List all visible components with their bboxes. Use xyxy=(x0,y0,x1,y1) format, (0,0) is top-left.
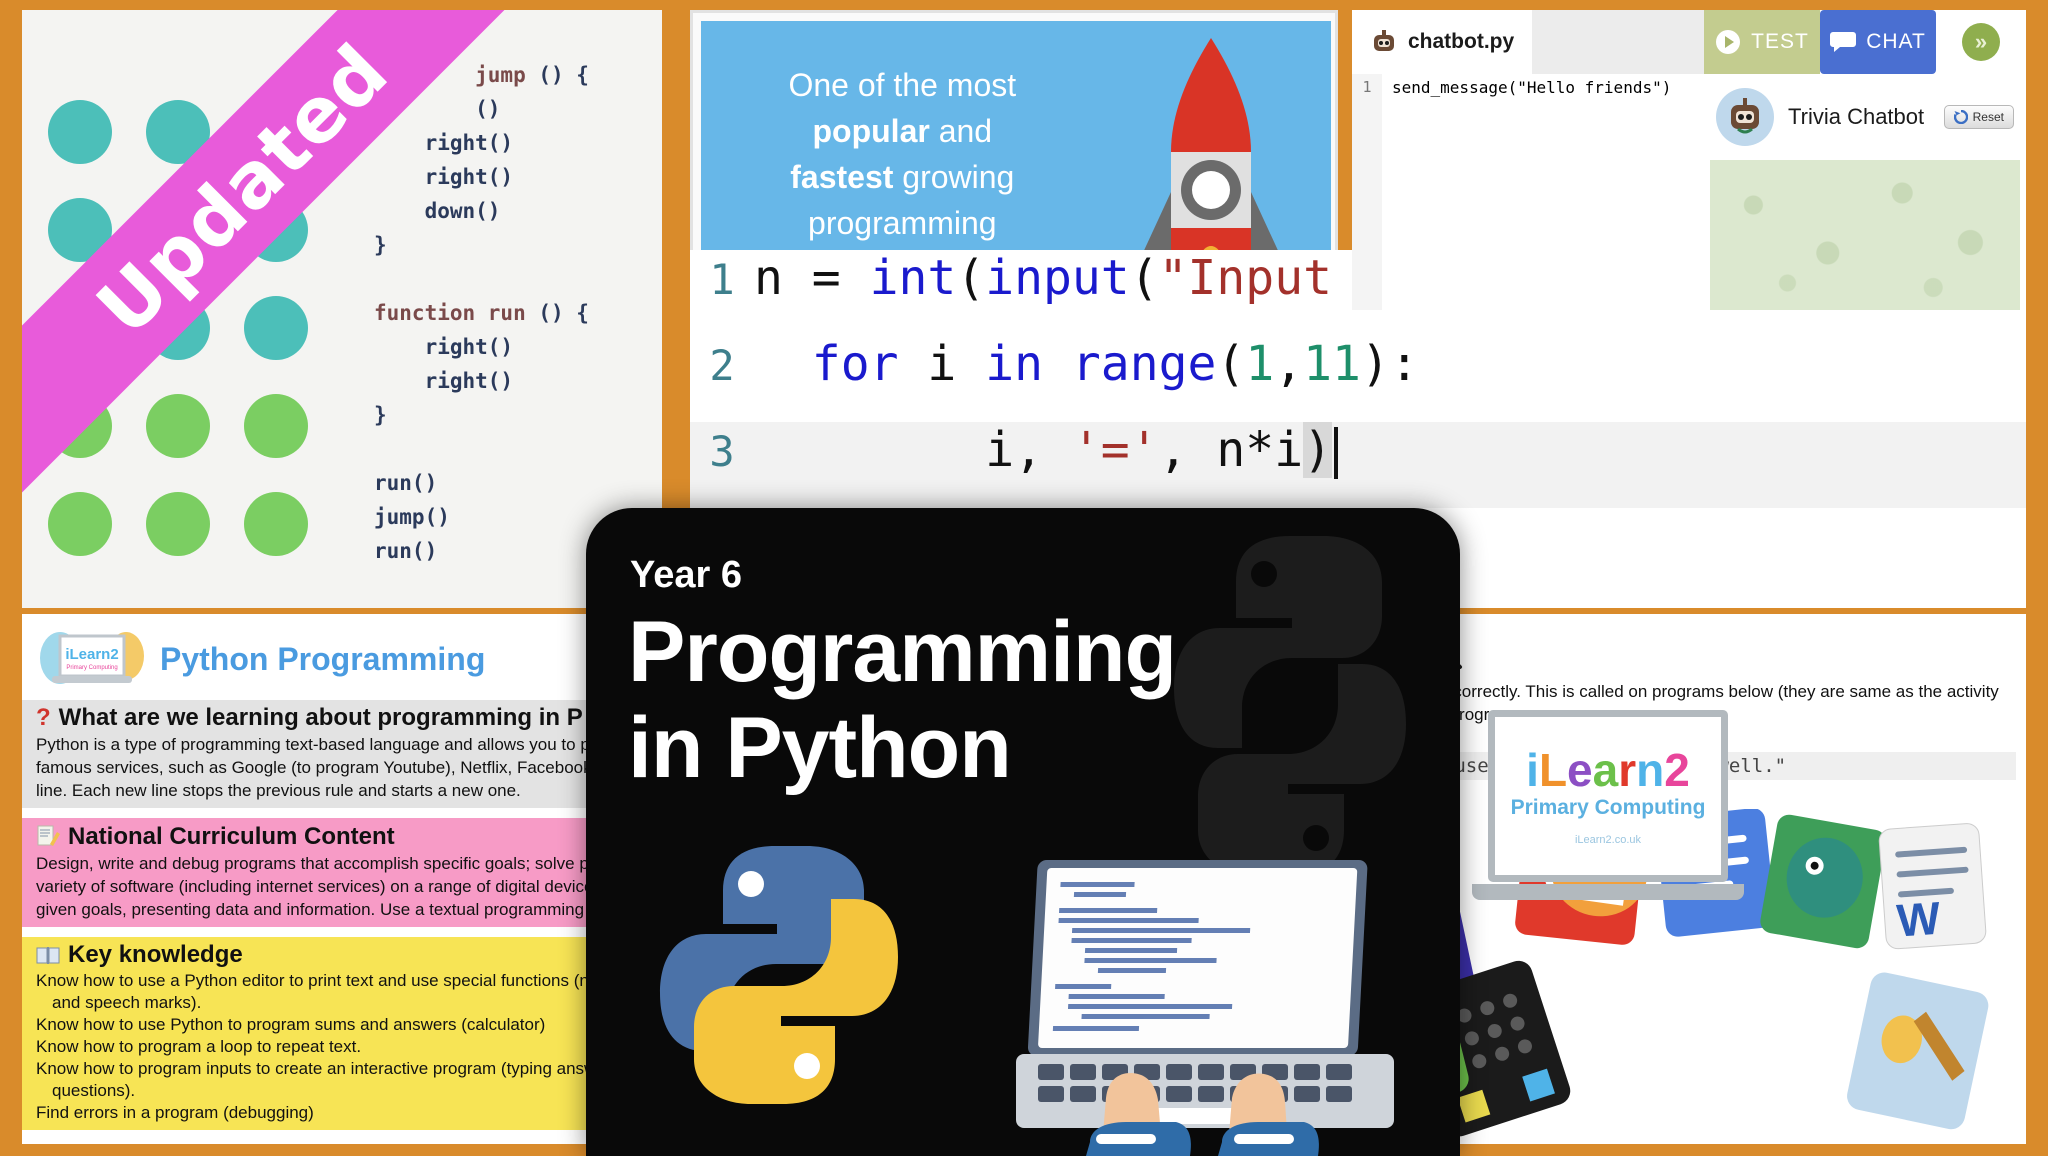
tab-chatbot-py[interactable]: chatbot.py xyxy=(1352,10,1532,74)
memo-pencil-icon xyxy=(36,824,60,848)
chatbot-toolbar: chatbot.py TEST CHAT » xyxy=(1352,10,2026,74)
chat-message-area[interactable] xyxy=(1710,160,2020,310)
chatbot-tab-strip: chatbot.py xyxy=(1352,10,1704,74)
key-knowledge-list: Know how to use a Python editor to print… xyxy=(36,970,648,1124)
ilearn2-mini-logo: iLearn2 Primary Computing xyxy=(38,628,146,690)
poster-frame: jump () { () right() right() down() } fu… xyxy=(0,0,2048,1156)
organiser-title: Python Programming xyxy=(160,641,485,678)
chatbot-filename: chatbot.py xyxy=(1408,30,1514,54)
key-point: Know how to program a loop to repeat tex… xyxy=(36,1036,648,1058)
question-mark-icon: ? xyxy=(36,706,51,729)
line-number-1: 1 xyxy=(690,255,754,304)
block-code-text: jump () { () right() right() down() } fu… xyxy=(374,58,589,568)
key-point: Know how to use a Python editor to print… xyxy=(36,970,648,1014)
bot-avatar xyxy=(1716,88,1774,146)
robot-avatar-icon xyxy=(1370,28,1398,56)
learning-section: ? What are we learning about programming… xyxy=(22,700,662,808)
organiser-header: iLearn2 Primary Computing Python Program… xyxy=(22,614,662,700)
test-button-label: TEST xyxy=(1751,30,1809,54)
robot-head-icon xyxy=(1723,95,1767,139)
line-number-3: 3 xyxy=(690,427,754,476)
code-line-2[interactable]: 2 for i in range(1,11): xyxy=(690,336,2026,422)
curriculum-heading-row: National Curriculum Content xyxy=(36,824,648,848)
laptop-typing-illustration xyxy=(986,856,1426,1156)
key-point: Find errors in a program (debugging) xyxy=(36,1102,648,1124)
rocket-line-3-bold: fastest xyxy=(790,159,893,195)
play-icon xyxy=(1715,29,1741,55)
chat-bubble-icon xyxy=(1830,30,1856,54)
ilearn2-laptop-logo: iLearn2 Primary Computing iLearn2.co.uk xyxy=(1472,710,1744,920)
ilearn2-subtitle: Primary Computing xyxy=(1511,796,1706,820)
chatbot-gutter: 1 xyxy=(1352,74,1382,310)
svg-text:W: W xyxy=(1895,892,1943,947)
code-line-2-text: for i in range(1,11): xyxy=(754,336,1419,392)
tab-strip-filler xyxy=(1532,10,1704,74)
knowledge-organiser-panel: iLearn2 Primary Computing Python Program… xyxy=(22,614,662,1144)
chatbot-header: Trivia Chatbot Reset xyxy=(1704,74,2026,160)
double-chevron-right-icon: » xyxy=(1962,23,2000,61)
learning-body: Python is a type of programming text-bas… xyxy=(36,733,648,802)
ilearn2-url: iLearn2.co.uk xyxy=(1575,834,1641,846)
learning-heading-row: ? What are we learning about programming… xyxy=(36,706,648,729)
block-code-panel: jump () { () right() right() down() } fu… xyxy=(22,10,662,608)
ilearn2-wordmark: iLearn2 xyxy=(1526,747,1690,793)
curriculum-heading: National Curriculum Content xyxy=(68,825,395,848)
svg-text:iLearn2: iLearn2 xyxy=(65,646,118,663)
rocket-line-2-bold: popular xyxy=(812,113,929,149)
bot-name: Trivia Chatbot xyxy=(1788,104,1930,130)
open-book-icon xyxy=(36,945,60,965)
expand-panel-button[interactable]: » xyxy=(1936,10,2026,74)
refresh-icon xyxy=(1954,110,1968,124)
key-knowledge-heading-row: Key knowledge xyxy=(36,943,648,966)
code-line-3-text: i, '=', n*i) xyxy=(754,422,1338,479)
laptop-base xyxy=(1472,884,1744,900)
rocket-line-4: programming xyxy=(713,200,1092,246)
reset-button[interactable]: Reset xyxy=(1944,105,2014,129)
curriculum-section: National Curriculum Content Design, writ… xyxy=(22,818,662,927)
learning-heading: What are we learning about programming i… xyxy=(59,706,583,729)
title-card: Year 6 Programming in Python xyxy=(586,508,1460,1156)
chatbot-ide-panel: chatbot.py TEST CHAT » xyxy=(1352,10,2026,310)
curriculum-body: Design, write and debug programs that ac… xyxy=(36,852,648,921)
ilearn2-screen: iLearn2 Primary Computing iLearn2.co.uk xyxy=(1488,710,1728,882)
chat-button-label: CHAT xyxy=(1866,30,1926,54)
key-knowledge-heading: Key knowledge xyxy=(68,943,243,966)
python-logo-icon xyxy=(644,838,914,1117)
key-knowledge-section: Key knowledge Know how to use a Python e… xyxy=(22,937,662,1130)
card-title: Programming in Python xyxy=(628,604,1248,796)
chatbot-chat-pane: Trivia Chatbot Reset xyxy=(1704,74,2026,310)
chatbot-code-area[interactable]: 1 send_message("Hello friends") xyxy=(1352,74,1704,310)
key-point: Know how to use Python to program sums a… xyxy=(36,1014,648,1036)
card-year-label: Year 6 xyxy=(630,554,742,597)
text-cursor xyxy=(1334,427,1338,479)
chatbot-code-text: send_message("Hello friends") xyxy=(1382,74,1671,310)
test-button[interactable]: TEST xyxy=(1704,10,1820,74)
svg-text:Primary Computing: Primary Computing xyxy=(66,665,117,671)
rocket-line-3-rest: growing xyxy=(893,159,1014,195)
chat-button[interactable]: CHAT xyxy=(1820,10,1936,74)
line-number-2: 2 xyxy=(690,341,754,390)
code-line-3[interactable]: 3 i, '=', n*i) xyxy=(690,422,2026,508)
rocket-line-1: One of the most xyxy=(713,62,1092,108)
rocket-line-2-rest: and xyxy=(930,113,992,149)
key-point: Know how to program inputs to create an … xyxy=(36,1058,648,1102)
reset-button-label: Reset xyxy=(1973,110,2004,124)
